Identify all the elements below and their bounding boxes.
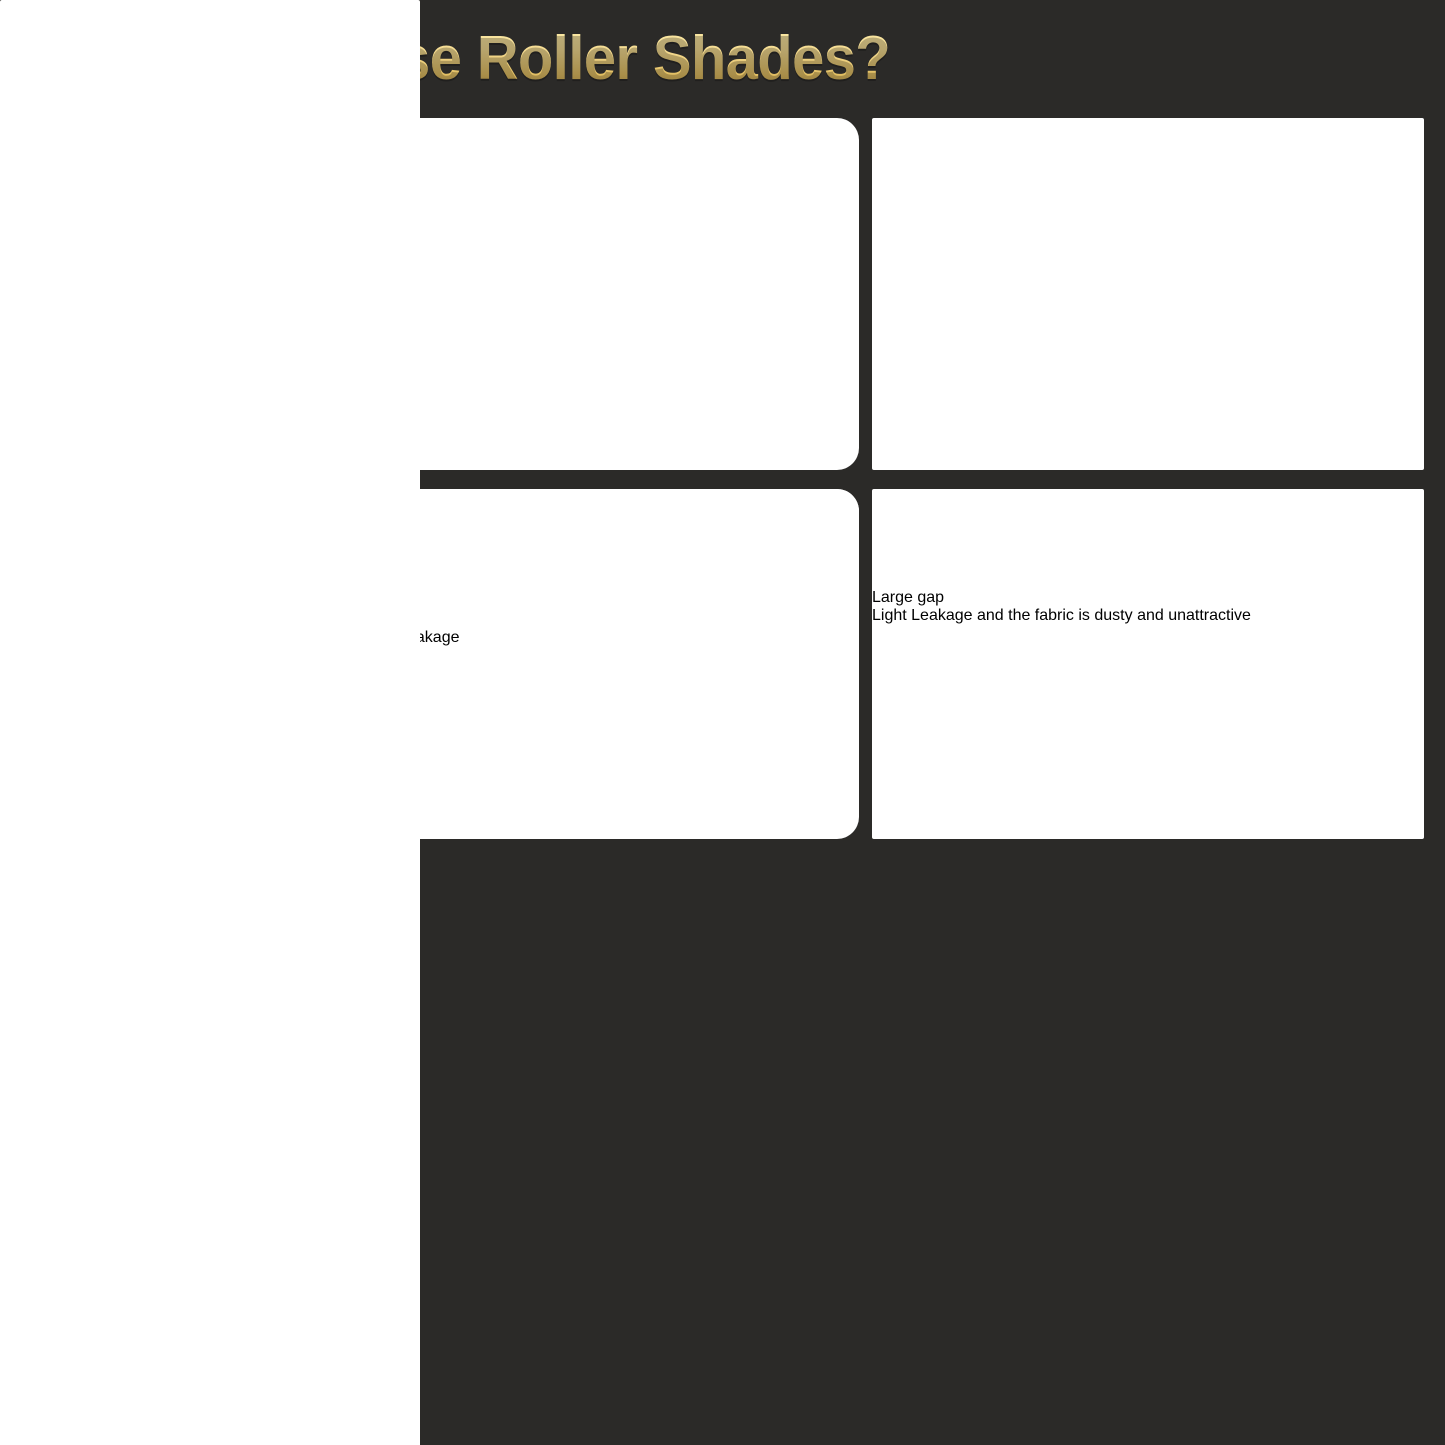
roller-lower-lobe [0,800,90,890]
bead-chain-1 [0,1164,420,1445]
roller-beam-photo: 4.00” 4.00” [872,118,1424,470]
panel-4-caption: Light Leakage and the fabric is dusty an… [872,607,1424,625]
infographic-root: Why To Choose Roller Shades? 2.06” 5.49”… [0,0,1445,1445]
panel-large-upper-beam: 4.00” 4.00” Large upper beam size, a min… [872,118,1424,470]
roller-fabric-white [0,56,400,452]
bracket-slot [0,1152,28,1164]
bracket-notch-bottom [0,1118,14,1152]
light-leakage-photo: Large gap [872,489,1424,607]
roller-end-ring [0,714,86,800]
panel-pulling-beads: Pulling beads are easy to tangle and bre… [0,0,420,1445]
roller-fabric-tan [872,345,950,470]
large-gap-label: Large gap [872,589,1424,607]
roller-bracket [0,890,162,1090]
pulling-beads-photo [0,0,420,1445]
gap-marker-bar [872,549,878,589]
detail-highlight-circle [872,489,958,549]
roller-fabric-tan [0,420,86,718]
panel-large-gap: Large gap Light Leakage and the fabric i… [872,489,1424,839]
bracket-notch-top [0,1090,20,1118]
